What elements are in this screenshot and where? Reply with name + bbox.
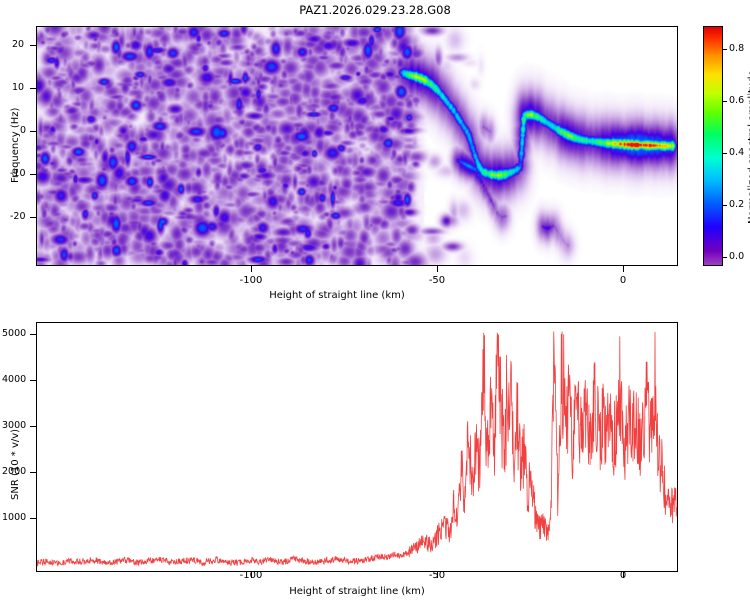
y-ticklabel: 5000 xyxy=(2,328,26,339)
x-tick xyxy=(623,266,624,272)
y-axis-label: Frequency (Hz) xyxy=(10,108,21,183)
x-axis-label: Height of straight line (km) xyxy=(237,290,437,301)
y-tick xyxy=(30,334,36,335)
x-ticklabel: 0 xyxy=(603,570,643,581)
colorbar-ticklabel: 0.2 xyxy=(729,199,744,210)
colorbar-gradient xyxy=(704,27,722,265)
x-ticklabel: -50 xyxy=(417,275,457,286)
y-ticklabel: 10 xyxy=(12,82,24,93)
y-ticklabel: 20 xyxy=(12,39,24,50)
x-ticklabel: -100 xyxy=(231,275,271,286)
x-ticklabel: -50 xyxy=(417,570,457,581)
y-tick xyxy=(30,131,36,132)
figure-title: PAZ1.2026.029.23.28.G08 xyxy=(0,3,750,17)
snr-series xyxy=(37,332,677,567)
colorbar-tick xyxy=(723,205,727,206)
y-tick xyxy=(30,88,36,89)
colorbar-ticklabel: 0.4 xyxy=(729,147,744,158)
x-tick xyxy=(437,266,438,272)
x-ticklabel: 0 xyxy=(603,275,643,286)
y-tick xyxy=(30,426,36,427)
colorbar-tick xyxy=(723,153,727,154)
colorbar-tick xyxy=(723,257,727,258)
x-axis-label: Height of straight line (km) xyxy=(257,586,457,597)
spectrogram-panel xyxy=(36,26,678,266)
colorbar-tick xyxy=(723,49,727,50)
snr-panel xyxy=(36,322,678,572)
colorbar-ticklabel: 0.6 xyxy=(729,95,744,106)
y-tick xyxy=(30,380,36,381)
y-tick xyxy=(30,217,36,218)
colorbar-ticklabel: 0.0 xyxy=(729,251,744,262)
colorbar xyxy=(703,26,723,266)
y-tick xyxy=(30,472,36,473)
x-ticklabel: -100 xyxy=(231,570,271,581)
y-ticklabel: 4000 xyxy=(2,374,26,385)
colorbar-tick xyxy=(723,101,727,102)
figure-root: PAZ1.2026.029.23.28.G08 20 10 0 -10 -20 … xyxy=(0,0,750,600)
spectrogram-image xyxy=(37,27,677,265)
y-tick xyxy=(30,45,36,46)
y-ticklabel: 1000 xyxy=(2,512,26,523)
y-ticklabel: -20 xyxy=(10,211,26,222)
x-tick xyxy=(251,266,252,272)
colorbar-ticklabel: 0.8 xyxy=(729,43,744,54)
y-tick xyxy=(30,174,36,175)
y-axis-label: SNR (10 * v/v) xyxy=(10,429,21,500)
y-tick xyxy=(30,518,36,519)
snr-line-plot xyxy=(37,323,677,571)
